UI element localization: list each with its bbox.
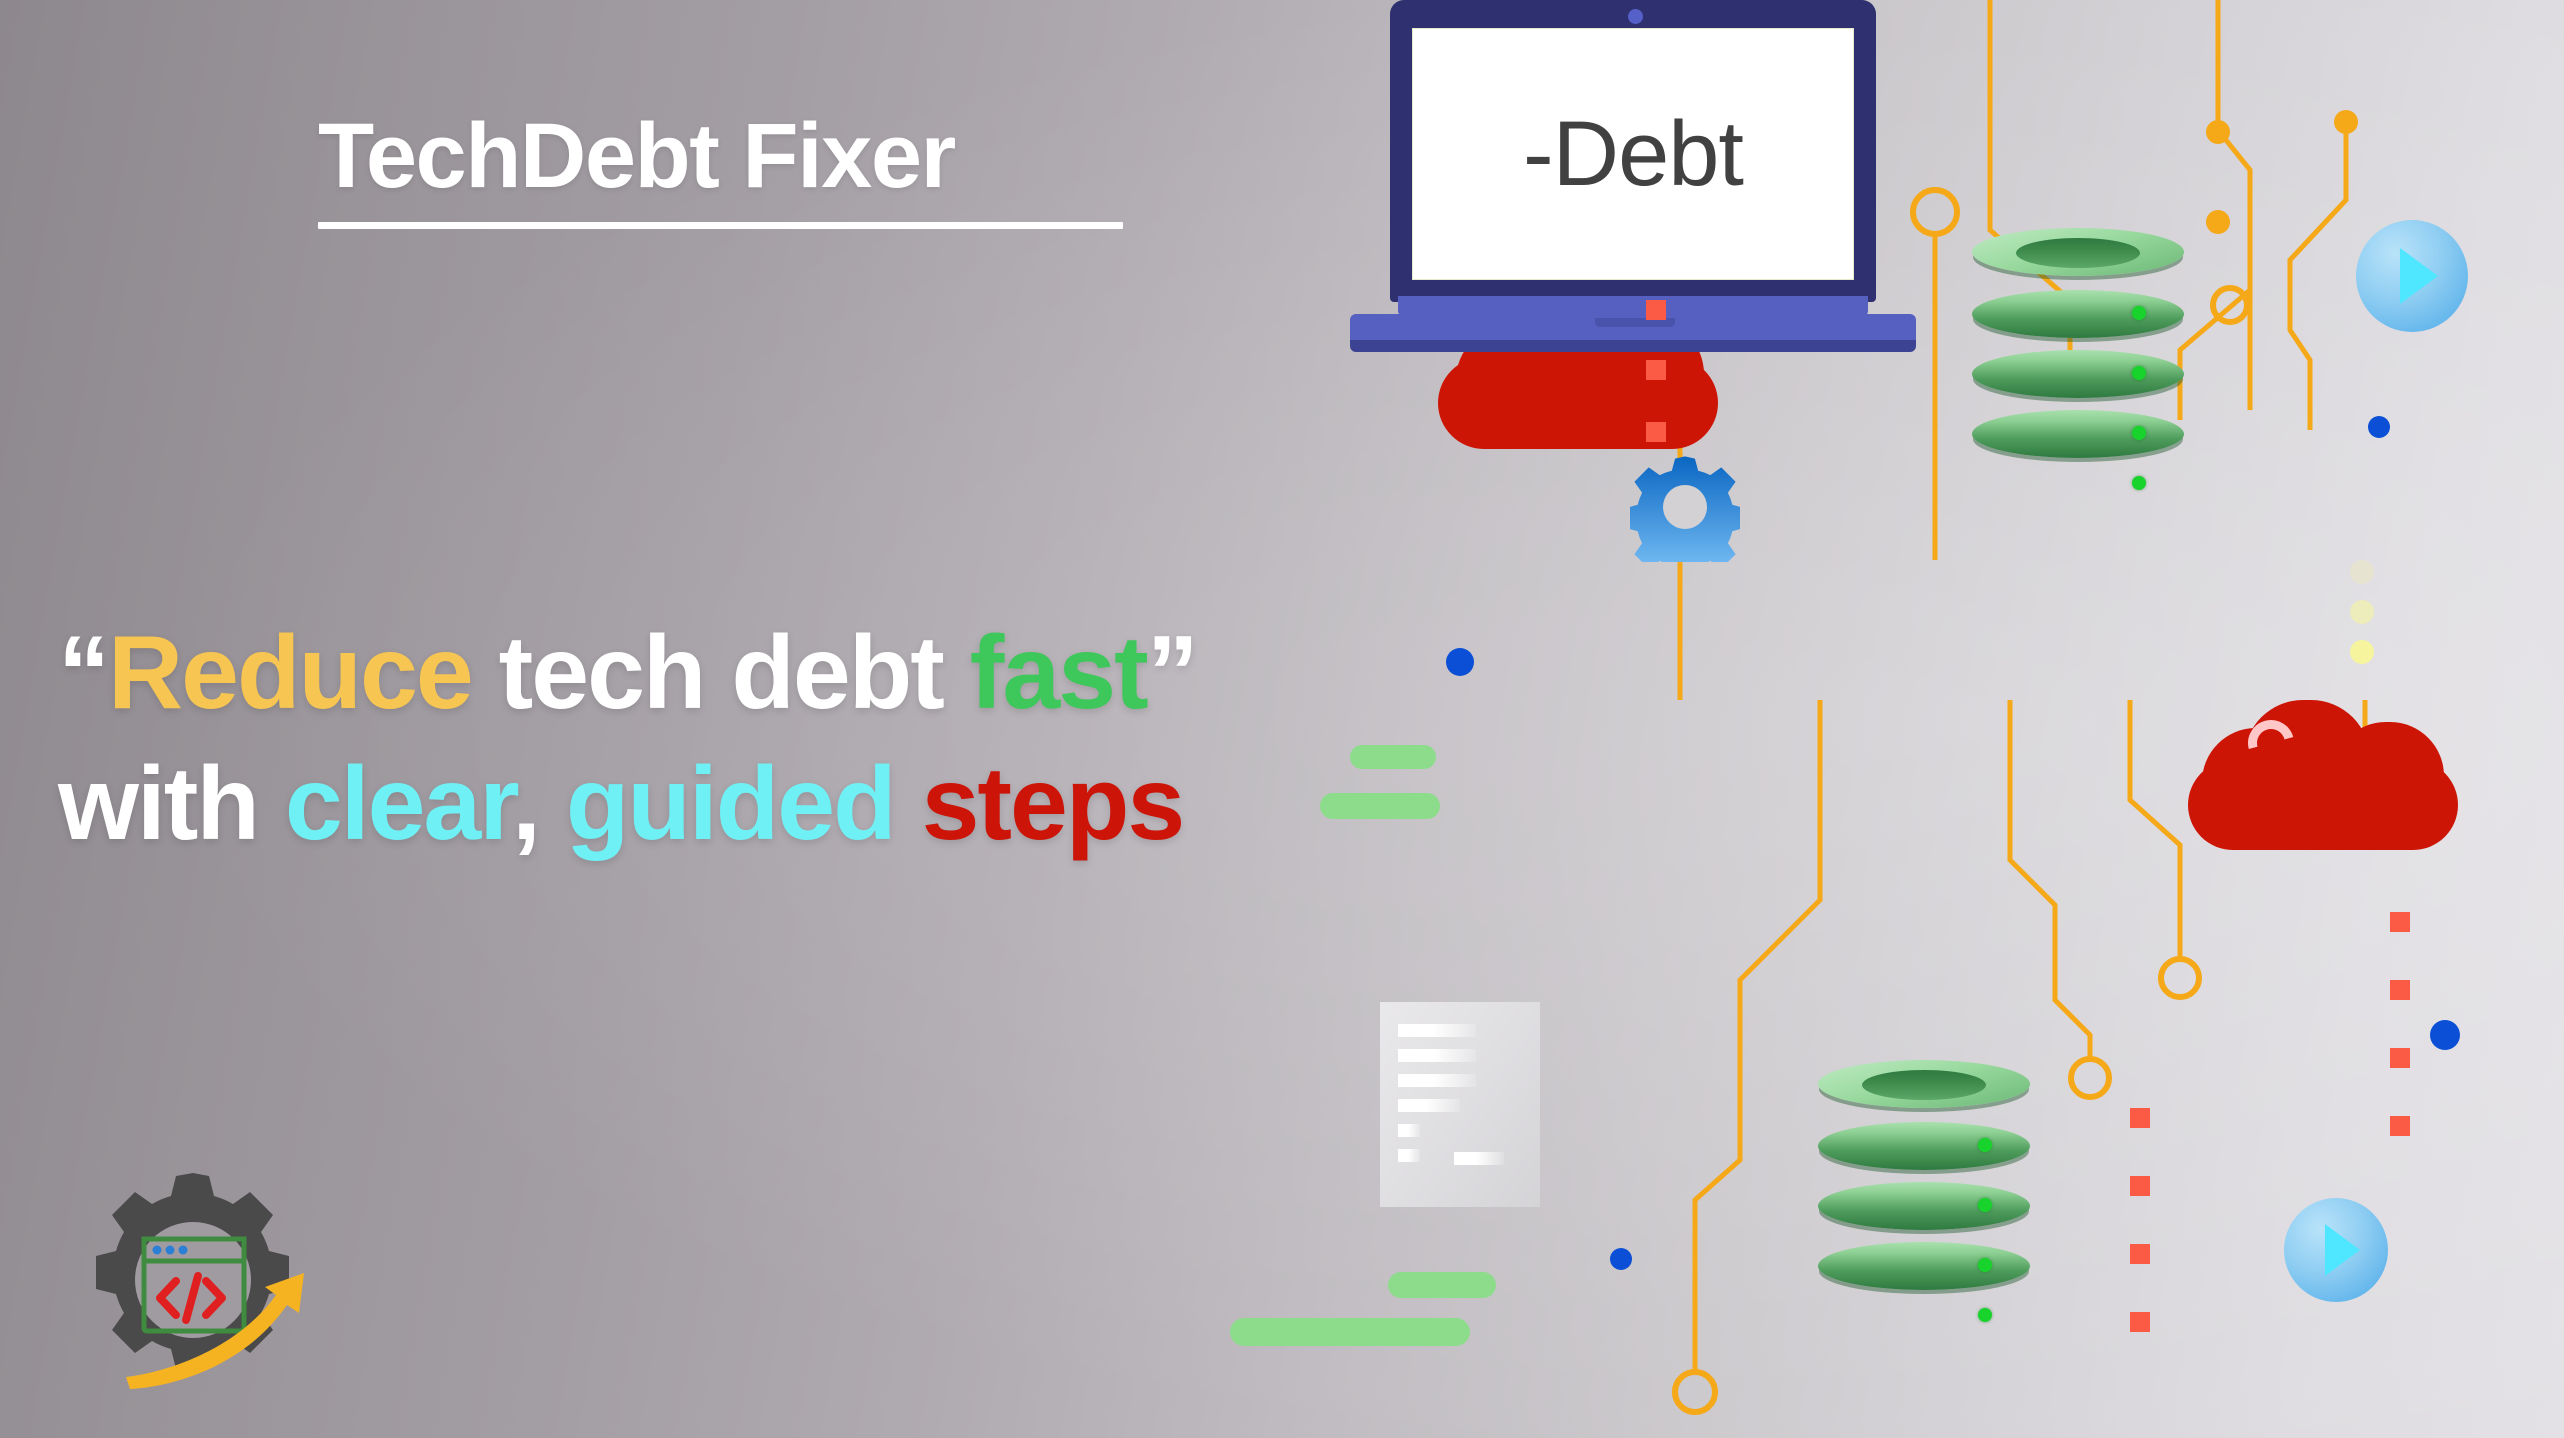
yellow-dot-1 [2350,560,2374,584]
word-reduce: Reduce [108,615,472,731]
word-clear: clear [285,746,512,862]
red-square-b3 [1646,422,1666,442]
space-1 [472,615,499,731]
title-underline [318,222,1123,229]
red-square-c3 [2390,1048,2410,1068]
word-with: with [58,746,258,862]
red-square-d3 [2130,1244,2150,1264]
laptop-lid: -Debt [1390,0,1876,302]
blue-dot-2 [2368,416,2390,438]
laptop-camera-icon [1628,9,1643,24]
red-square-c2 [2390,980,2410,1000]
gear-icon [96,1173,289,1369]
techdebt-fixer-logo [68,1155,318,1405]
window-dot-1 [153,1246,162,1255]
space-5 [895,746,922,862]
comma: , [512,746,539,862]
page-title-block: TechDebt Fixer [318,110,1123,229]
trace-ring-2 [1913,190,1957,234]
database-cylinder-top [1972,228,2184,503]
green-bar-3 [1388,1272,1496,1298]
word-guided: guided [566,746,895,862]
close-quote: ” [1147,615,1197,731]
word-fast: fast [970,615,1147,731]
blue-dot-4 [1610,1248,1632,1270]
gear-blue-small [1630,452,1740,567]
space-2 [943,615,970,731]
database-cylinder-bottom [1818,1060,2030,1335]
play-triangle-icon [2356,220,2468,332]
cloud-red-lower [2188,700,2458,850]
trace-dot-1 [2206,120,2230,144]
tagline: “Reduce tech debt fast” with clear, guid… [58,608,1197,870]
trace-ring-5 [2161,959,2199,997]
laptop-base-lip [1350,340,1916,352]
red-square-d1 [2130,1108,2150,1128]
word-tech-debt: tech debt [499,615,943,731]
tagline-line-1: “Reduce tech debt fast” [58,608,1197,739]
illustration: -Debt [1350,0,2564,1438]
red-square-c4 [2390,1116,2410,1136]
blue-dot-1 [1446,648,1474,676]
blue-dot-3 [2430,1020,2460,1050]
red-square-b2 [1646,360,1666,380]
green-bar-2 [1320,793,1440,819]
trace-ring-4 [1675,1372,1715,1412]
laptop-screen-text: -Debt [1413,29,1853,279]
laptop-illustration: -Debt [1350,0,1910,350]
red-square-b1 [1646,300,1666,320]
yellow-dot-3 [2350,640,2374,664]
open-quote: “ [58,615,108,731]
window-dot-3 [179,1246,188,1255]
green-bar-1 [1350,745,1436,769]
play-button-lower[interactable] [2284,1198,2388,1302]
tagline-line-2: with clear, guided steps [58,739,1197,870]
page-title: TechDebt Fixer [318,110,1123,202]
play-button-upper[interactable] [2356,220,2468,332]
yellow-dot-2 [2350,600,2374,624]
red-square-d2 [2130,1176,2150,1196]
space-3 [258,746,285,862]
window-dot-2 [166,1246,175,1255]
document-icon [1380,1002,1540,1207]
trace-ring-3 [2071,1059,2109,1097]
word-steps: steps [922,746,1184,862]
play-triangle-icon [2284,1198,2388,1302]
space-4 [539,746,566,862]
laptop-hinge [1398,296,1868,316]
red-square-d4 [2130,1312,2150,1332]
laptop-screen: -Debt [1412,28,1854,280]
trace-dot-2 [2206,210,2230,234]
red-square-c1 [2390,912,2410,932]
green-bar-4 [1230,1318,1470,1346]
